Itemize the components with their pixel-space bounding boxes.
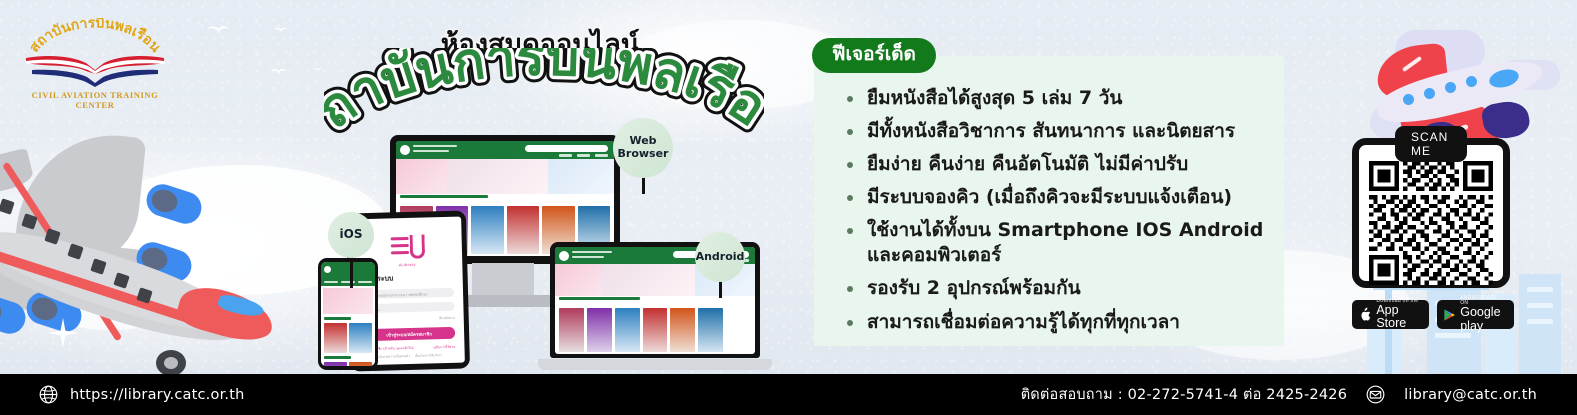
airplane-illustration-large [0,150,340,400]
app-store-badge[interactable]: Download on the App Store [1352,300,1429,329]
google-play-big-label: Google [1460,305,1500,319]
site-header [396,141,614,159]
features-badge: ฟีเจอร์เด็ด [812,38,936,73]
feature-item: มีระบบจองคิว (เมื่อถึงคิวจะมีระบบแจ้งเตื… [845,185,1275,210]
headline-line2-arc: สถาบันการบินพลเรือน สถาบันการบินพลเรือน … [324,48,764,140]
site-section-title [396,194,614,204]
catc-logo: สถาบันการบินพลเรือน CIVIL AVIATION TRAIN… [20,18,170,104]
feature-item: ยืมง่าย คืนง่าย คืนอัตโนมัติ ไม่มีค่าปรั… [845,152,1275,177]
google-play-icon [1444,306,1455,324]
svg-text:สถาบันการบินพลเรือน: สถาบันการบินพลเรือน [324,48,764,140]
laptop-base [538,359,772,370]
feature-item: ใช้งานได้ทั้งบน Smartphone IOS Android แ… [845,218,1275,268]
site-section-title [555,296,755,306]
globe-icon [38,384,59,405]
badge-web-browser: Web Browser [613,118,673,178]
site-hero-banners [396,159,614,194]
monitor-stand [472,263,534,299]
app-tabs[interactable] [321,279,375,286]
features-list: ยืมหนังสือได้สูงสุด 5 เล่ม 7 วัน มีทั้งห… [845,86,1275,343]
app-section-title [324,356,351,359]
app-hero-banner [323,288,373,314]
google-play-big-label-2: play [1460,319,1483,333]
footer-bar: https://library.catc.or.th ติดต่อสอบถาม … [0,374,1577,415]
site-book-grid [555,306,755,354]
app-logo-icon [324,266,331,273]
feature-item: มีทั้งหนังสือวิชาการ สันทนาการ และนิตยสา… [845,119,1275,144]
footer-website-group[interactable]: https://library.catc.or.th [38,384,244,405]
app-book-row [321,323,375,353]
feature-item: สามารถเชื่อมต่อความรู้ได้ทุกที่ทุกเวลา [845,310,1275,335]
site-brand-line2 [413,150,449,152]
site-logo-icon [559,251,569,261]
footer-contact-text: ติดต่อสอบถาม : 02-272-5741-4 ต่อ 2425-24… [1021,383,1347,406]
library-promo-banner: สถาบันการบินพลเรือน CIVIL AVIATION TRAIN… [0,0,1577,415]
manual-link[interactable]: คู่มือการใช้งาน [433,345,455,351]
site-brand-line1 [572,251,612,253]
logo-arch-label: สถาบันการบินพลเรือน [26,18,163,56]
qr-block: SCAN ME [1352,138,1514,329]
bird-icon [270,69,289,79]
headline-line2-fill: สถาบันการบินพลเรือน [324,48,764,140]
mail-icon [1365,384,1386,405]
phone-mockup [318,258,378,370]
badge-ios: iOS [328,212,374,258]
logo-wing-blue [26,68,164,88]
bird-icon [207,26,231,39]
bird-icon [273,28,288,36]
badge-android: Android [695,232,745,282]
app-store-badges: Download on the App Store ANDROID APP ON… [1352,300,1514,329]
device-mockups: eLibrary เข้าสู่ระบบ อีเมล / เลขบัตรประช… [300,130,760,370]
bird-icon [313,68,324,74]
logo-subtitle: CIVIL AVIATION TRAINING CENTER [20,90,170,110]
elibrary-logo-icon [388,234,427,262]
headline-block: ห้องสมุดออนไลน์ สถาบันการบินพลเรือน สถาบ… [330,22,750,132]
qr-frame: SCAN ME [1352,138,1510,288]
privacy-link[interactable]: นโยบายความเป็นส่วนตัว [377,354,409,360]
app-section-title [324,317,351,320]
terms-link[interactable]: เงื่อนไขการให้บริการ [415,353,442,359]
feature-item: ยืมหนังสือได้สูงสุด 5 เล่ม 7 วัน [845,86,1275,111]
qr-code-image[interactable] [1369,161,1493,285]
site-brand-line1 [413,145,457,147]
google-play-badge[interactable]: ANDROID APP ON Google play [1437,300,1514,329]
app-store-small-label: Download on the [1376,299,1422,304]
phone-screen-content [321,262,375,366]
app-store-big-label: App Store [1376,304,1422,330]
site-nav[interactable] [559,154,608,157]
feature-item: รองรับ 2 อุปกรณ์พร้อมกัน [845,276,1275,301]
svg-text:สถาบันการบินพลเรือน: สถาบันการบินพลเรือน [26,18,163,56]
site-brand-line2 [572,256,604,258]
google-play-small-label: ANDROID APP ON [1460,296,1507,306]
scan-me-label: SCAN ME [1395,126,1467,162]
footer-email-text[interactable]: library@catc.or.th [1404,387,1537,403]
app-book-row [321,362,375,366]
app-header [321,262,375,279]
footer-website-text[interactable]: https://library.catc.or.th [70,387,244,403]
footer-contact-group: ติดต่อสอบถาม : 02-272-5741-4 ต่อ 2425-24… [1021,383,1537,406]
site-search-input[interactable] [525,145,608,152]
site-logo-icon [400,145,410,155]
apple-icon [1359,306,1371,324]
